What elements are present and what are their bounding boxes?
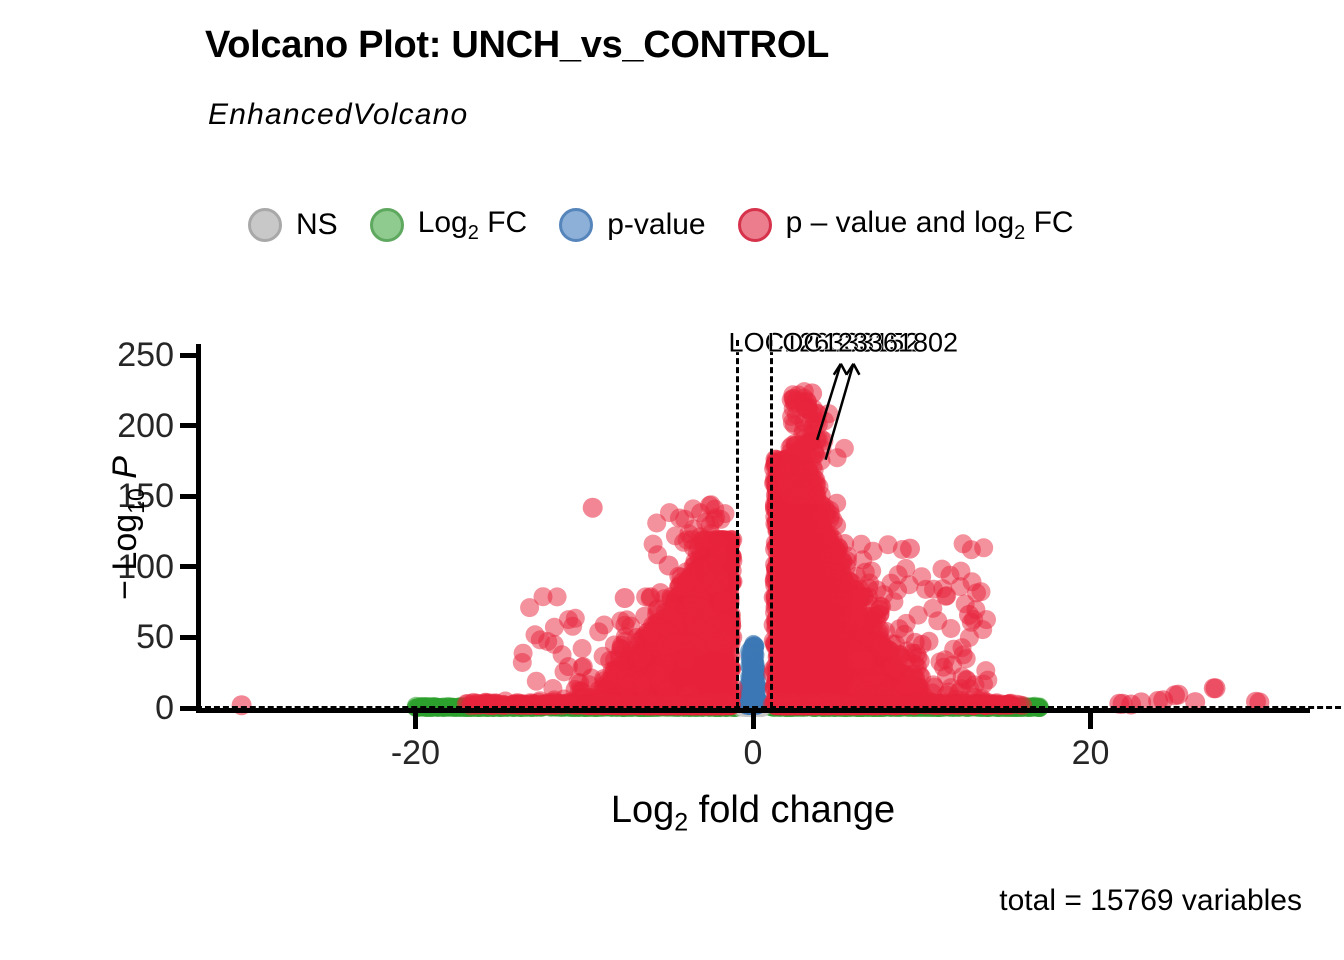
plot-area: 050100150200250 -20020 LOC126333152LOC12… xyxy=(196,344,1310,712)
legend-item: NS xyxy=(248,208,370,242)
y-axis-line xyxy=(196,344,201,712)
legend: NSLog2 FCp-valuep – value and log2 FC xyxy=(248,198,1106,252)
x-tick xyxy=(413,713,418,729)
circle-marker xyxy=(559,208,593,242)
y-tick xyxy=(180,635,196,640)
x-axis-label: Log2 fold change xyxy=(196,789,1310,838)
y-tick-label: 0 xyxy=(155,691,174,725)
legend-item: Log2 FC xyxy=(370,208,560,243)
legend-item-label: NS xyxy=(296,210,338,240)
total-variables-caption: total = 15769 variables xyxy=(196,884,1310,918)
legend-item-label: p – value and log2 FC xyxy=(786,208,1074,243)
x-tick-label: -20 xyxy=(391,736,440,770)
log2fc-cutoff-line xyxy=(770,340,773,708)
y-tick xyxy=(180,706,196,711)
x-tick xyxy=(1088,713,1093,729)
circle-marker xyxy=(738,208,772,242)
y-tick-label: 200 xyxy=(117,409,174,443)
pvalue-cutoff-line xyxy=(196,706,1344,709)
y-tick xyxy=(180,564,196,569)
y-tick-label: 250 xyxy=(117,338,174,372)
gene-label: LOC123361802 xyxy=(767,330,958,357)
log2fc-cutoff-line xyxy=(736,340,739,708)
y-tick xyxy=(180,353,196,358)
x-tick-label: 20 xyxy=(1072,736,1110,770)
x-tick xyxy=(751,713,756,729)
page-title: Volcano Plot: UNCH_vs_CONTROL xyxy=(205,24,829,67)
scatter-points-layer xyxy=(196,344,1310,712)
legend-item: p-value xyxy=(559,208,737,242)
legend-item: p – value and log2 FC xyxy=(738,208,1106,243)
y-tick xyxy=(180,494,196,499)
circle-marker xyxy=(248,208,282,242)
y-axis-label: − Log10 P xyxy=(106,456,150,600)
circle-marker xyxy=(370,208,404,242)
x-tick-label: 0 xyxy=(744,736,763,770)
legend-item-label: p-value xyxy=(607,210,705,240)
y-tick-label: 50 xyxy=(136,620,174,654)
legend-item-label: Log2 FC xyxy=(418,208,528,243)
y-tick xyxy=(180,423,196,428)
plot-subtitle: EnhancedVolcano xyxy=(208,98,468,132)
volcano-plot-figure: Volcano Plot: UNCH_vs_CONTROL EnhancedVo… xyxy=(0,0,1344,960)
